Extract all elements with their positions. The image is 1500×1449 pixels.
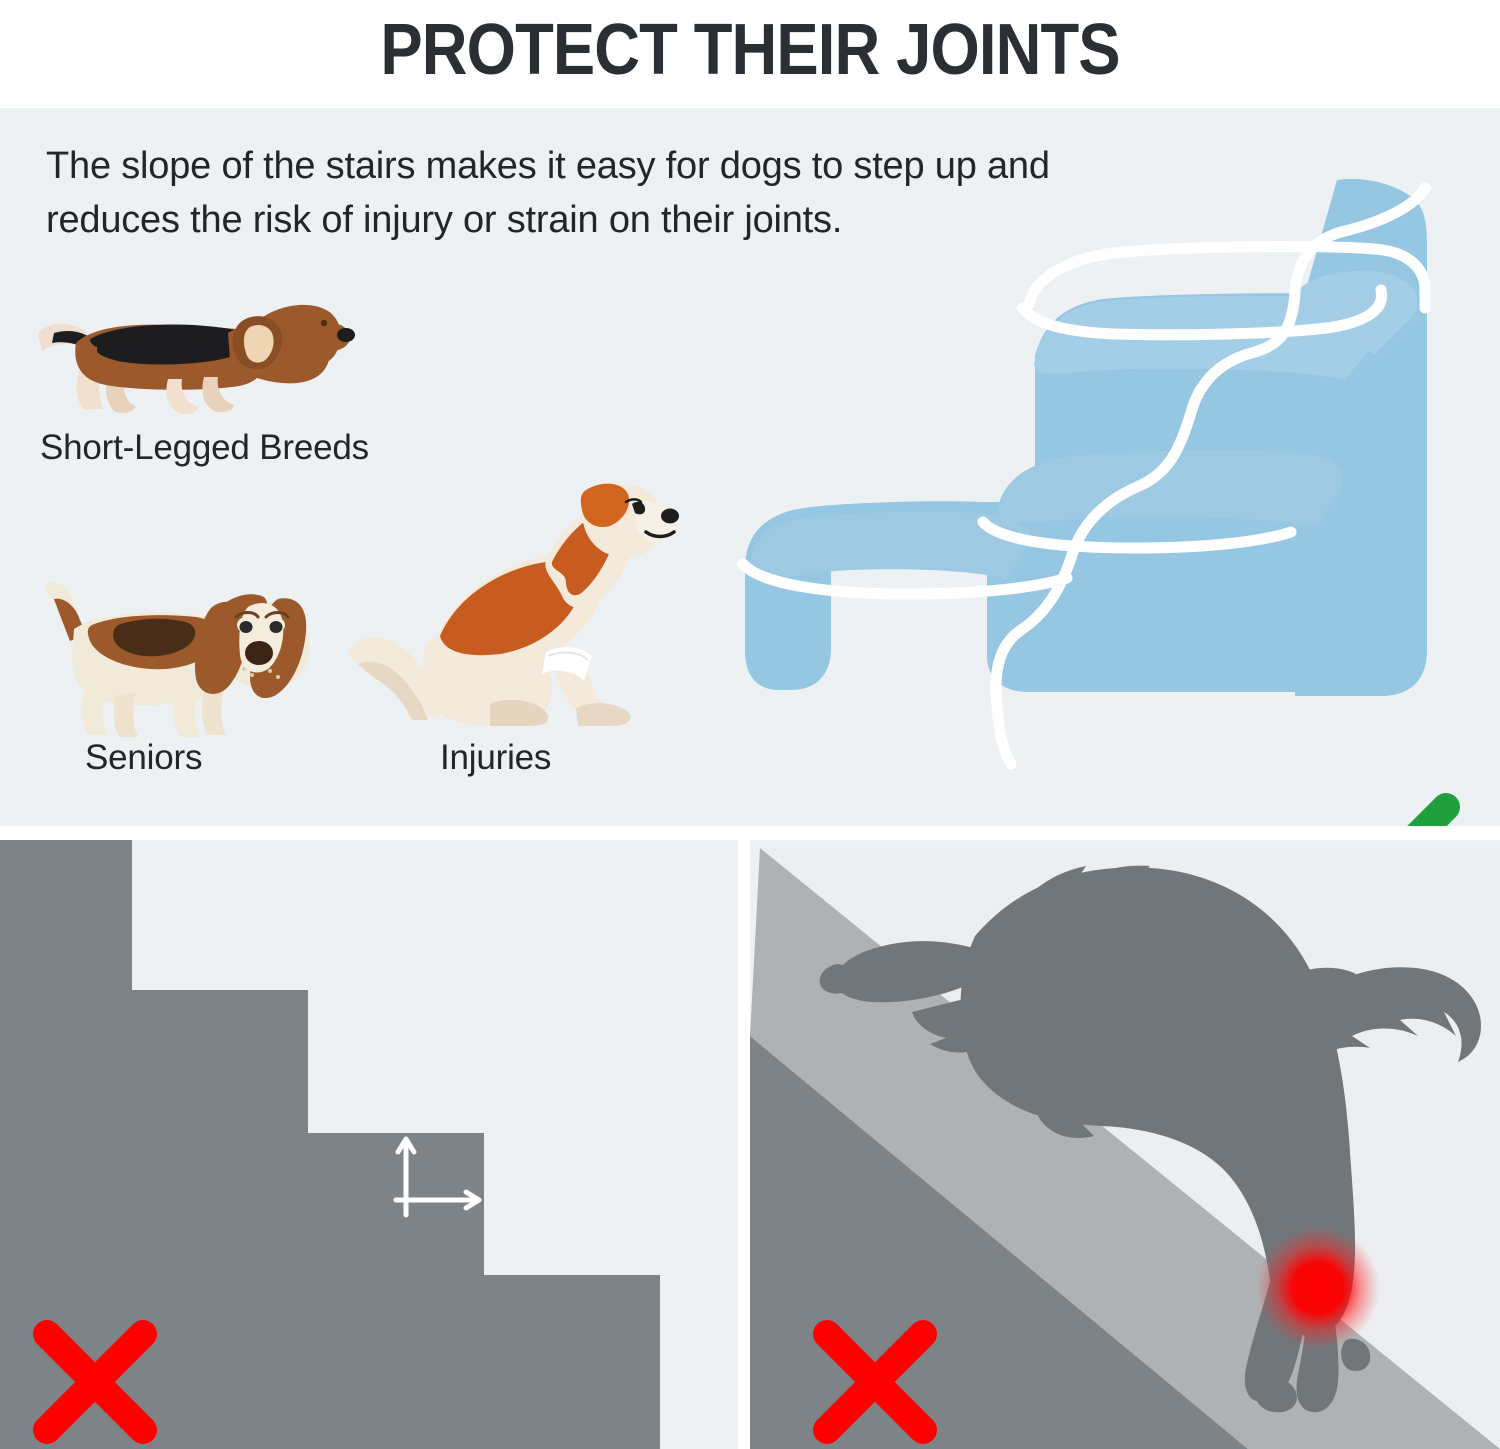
red-x-icon <box>25 1312 165 1449</box>
infographic-page: PROTECT THEIR JOINTS The slope of the st… <box>0 0 1500 1449</box>
dog-label-seniors: Seniors <box>85 738 202 778</box>
header-bar: PROTECT THEIR JOINTS <box>0 0 1500 100</box>
green-check-icon <box>1290 793 1470 826</box>
dog-label-injuries: Injuries <box>440 738 551 778</box>
page-title: PROTECT THEIR JOINTS <box>380 14 1119 86</box>
basset-hound-walking-icon <box>28 273 358 433</box>
red-x-icon <box>805 1312 945 1449</box>
benefits-panel: The slope of the stairs makes it easy fo… <box>0 108 1500 826</box>
blue-three-step-pet-stairs-icon <box>735 128 1475 768</box>
dog-label-short-legged: Short-Legged Breeds <box>40 428 369 468</box>
sitting-dog-with-bandage-icon <box>340 468 690 728</box>
senior-basset-hound-icon <box>30 563 330 743</box>
red-pain-spot-icon <box>1256 1226 1380 1350</box>
